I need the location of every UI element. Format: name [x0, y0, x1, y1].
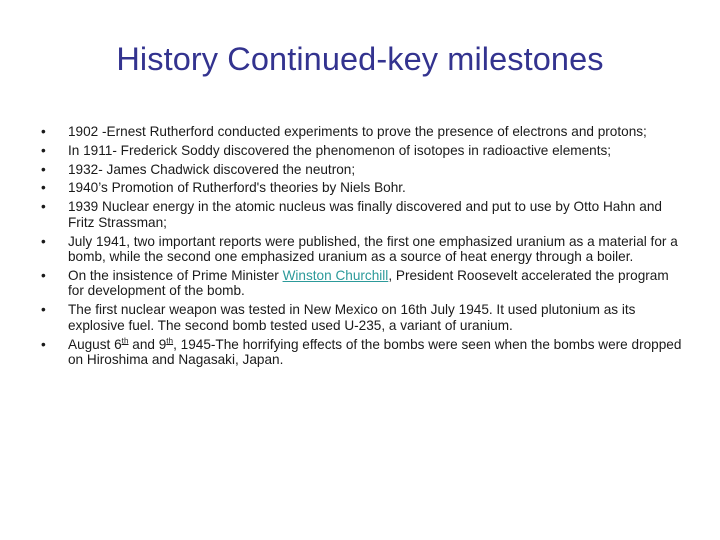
bullet-point-icon: •	[41, 124, 51, 140]
text-before-link: On the insistence of Prime Minister	[68, 268, 283, 283]
list-item-churchill-roosevelt: • On the insistence of Prime Minister Wi…	[36, 268, 682, 299]
bullet-list: • 1902 -Ernest Rutherford conducted expe…	[36, 124, 682, 371]
list-item-july-1941-reports: • July 1941, two important reports were …	[36, 234, 682, 265]
list-item-text: 1932- James Chadwick discovered the neut…	[68, 162, 682, 178]
list-item-hiroshima-nagasaki: • August 6th and 9th, 1945-The horrifyin…	[36, 337, 682, 368]
list-item-1939-nuclear-energy: • 1939 Nuclear energy in the atomic nucl…	[36, 199, 682, 230]
list-item-text: 1939 Nuclear energy in the atomic nucleu…	[68, 199, 682, 230]
date-segment-august-6: August 6	[68, 337, 122, 352]
list-item-1911-soddy: • In 1911- Frederick Soddy discovered th…	[36, 143, 682, 159]
list-item-text: On the insistence of Prime Minister Wins…	[68, 268, 682, 299]
page-title: History Continued-key milestones	[0, 40, 720, 78]
list-item-1932-chadwick: • 1932- James Chadwick discovered the ne…	[36, 162, 682, 178]
list-item-text: August 6th and 9th, 1945-The horrifying …	[68, 337, 682, 368]
list-item-text: 1902 -Ernest Rutherford conducted experi…	[68, 124, 682, 140]
list-item-text: The first nuclear weapon was tested in N…	[68, 302, 682, 333]
list-item-text: In 1911- Frederick Soddy discovered the …	[68, 143, 682, 159]
slide-canvas: History Continued-key milestones • 1902 …	[0, 0, 720, 540]
bullet-point-icon: •	[41, 337, 51, 353]
bullet-point-icon: •	[41, 143, 51, 159]
bullet-point-icon: •	[41, 234, 51, 250]
list-item-1902-rutherford: • 1902 -Ernest Rutherford conducted expe…	[36, 124, 682, 140]
list-item-new-mexico-test: • The first nuclear weapon was tested in…	[36, 302, 682, 333]
bullet-point-icon: •	[41, 162, 51, 178]
bullet-point-icon: •	[41, 199, 51, 215]
bullet-point-icon: •	[41, 180, 51, 196]
list-item-text: 1940’s Promotion of Rutherford's theorie…	[68, 180, 682, 196]
list-item-text: July 1941, two important reports were pu…	[68, 234, 682, 265]
bullet-point-icon: •	[41, 268, 51, 284]
winston-churchill-link[interactable]: Winston Churchill	[283, 268, 389, 283]
bullet-point-icon: •	[41, 302, 51, 318]
list-item-1940s-bohr: • 1940’s Promotion of Rutherford's theor…	[36, 180, 682, 196]
date-segment-and-9: and 9	[128, 337, 166, 352]
